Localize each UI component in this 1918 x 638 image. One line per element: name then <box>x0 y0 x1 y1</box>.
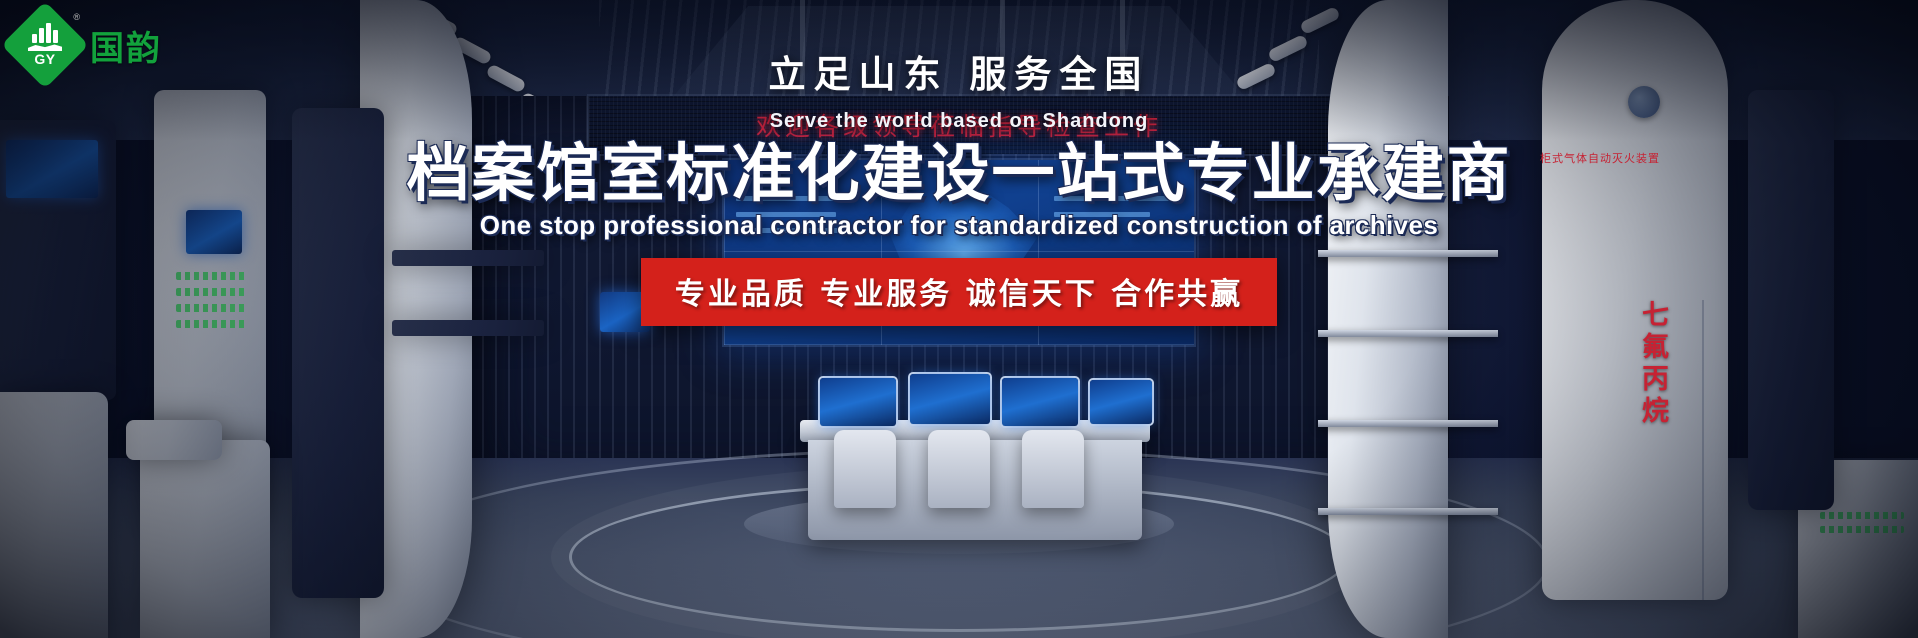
logo-glyph: GY <box>14 14 76 76</box>
left-dehumidifier <box>140 440 270 638</box>
brand-logo[interactable]: GY ® 国韵 <box>14 14 162 76</box>
left-white-panel <box>0 392 108 638</box>
desk-monitor <box>910 374 990 424</box>
office-chair <box>928 430 990 508</box>
hero-headline-cn: 档案馆室标准化建设一站式专业承建商 <box>0 139 1918 208</box>
gy-building-diamond-logo-icon: GY ® <box>14 14 76 76</box>
cylinder-door-seam <box>1702 300 1704 600</box>
left-mobile-cart <box>126 420 222 460</box>
brand-name: 国韵 <box>90 21 162 70</box>
desk-monitor <box>1002 378 1078 426</box>
hero-ribbon: 专业品质 专业服务 诚信天下 合作共赢 <box>641 258 1277 326</box>
right-cabinet-status-led <box>1820 512 1904 519</box>
hero-copy: 立足山东 服务全国 Serve the world based on Shand… <box>0 0 1918 326</box>
registered-mark: ® <box>73 12 80 22</box>
archive-shelf <box>1318 420 1498 427</box>
hero-banner: 欢迎各级领导莅临指导检查工作 <box>0 0 1918 638</box>
desk-monitor <box>820 378 896 426</box>
hero-slogan-en: Serve the world based on Shandong <box>0 110 1918 133</box>
archive-shelf <box>1318 330 1498 337</box>
hero-headline-en: One stop professional contractor for sta… <box>0 210 1918 241</box>
hero-slogan-cn: 立足山东 服务全国 <box>0 44 1918 98</box>
right-cabinet-status-led <box>1820 526 1904 533</box>
logo-building-icon <box>32 23 58 43</box>
logo-initials: GY <box>34 51 55 67</box>
logo-wave-shape <box>28 44 62 51</box>
office-chair <box>834 430 896 508</box>
desk-monitor <box>1090 380 1152 424</box>
office-chair <box>1022 430 1084 508</box>
archive-shelf <box>1318 508 1498 515</box>
